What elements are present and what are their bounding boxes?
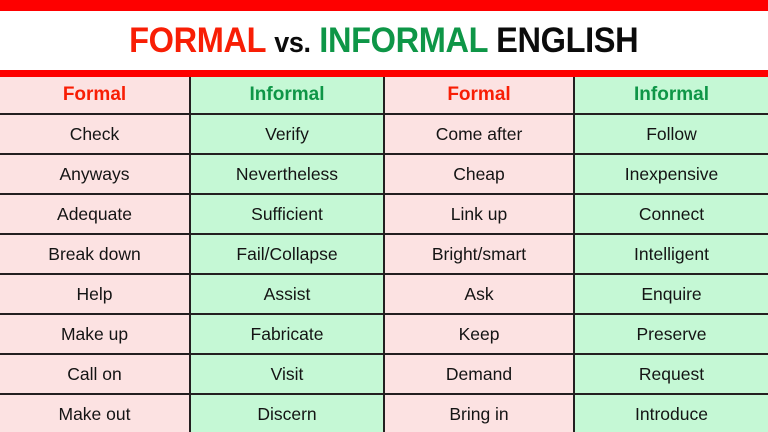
title-word-formal: FORMAL bbox=[129, 21, 265, 60]
table-row: Anyways Nevertheless Cheap Inexpensive bbox=[0, 154, 768, 194]
cell-formal: Come after bbox=[384, 114, 574, 154]
table-row: Break down Fail/Collapse Bright/smart In… bbox=[0, 234, 768, 274]
cell-informal: Fail/Collapse bbox=[190, 234, 384, 274]
title-word-vs: vs. bbox=[275, 27, 311, 59]
table-row: Adequate Sufficient Link up Connect bbox=[0, 194, 768, 234]
title-word-informal: INFORMAL bbox=[320, 21, 488, 60]
table-row: Make up Fabricate Keep Preserve bbox=[0, 314, 768, 354]
vocabulary-infographic: FORMAL vs. INFORMAL ENGLISH Formal Infor… bbox=[0, 0, 768, 432]
column-header-formal-2: Formal bbox=[384, 77, 574, 114]
cell-informal: Visit bbox=[190, 354, 384, 394]
title-banner: FORMAL vs. INFORMAL ENGLISH bbox=[0, 11, 768, 70]
cell-informal: Request bbox=[574, 354, 768, 394]
cell-informal: Enquire bbox=[574, 274, 768, 314]
cell-informal: Connect bbox=[574, 194, 768, 234]
column-header-formal-1: Formal bbox=[0, 77, 190, 114]
cell-formal: Anyways bbox=[0, 154, 190, 194]
cell-formal: Cheap bbox=[384, 154, 574, 194]
cell-informal: Verify bbox=[190, 114, 384, 154]
cell-informal: Inexpensive bbox=[574, 154, 768, 194]
vocabulary-table-container: Formal Informal Formal Informal Check Ve… bbox=[0, 77, 768, 432]
column-header-informal-2: Informal bbox=[574, 77, 768, 114]
cell-informal: Discern bbox=[190, 394, 384, 432]
cell-informal: Intelligent bbox=[574, 234, 768, 274]
table-header: Formal Informal Formal Informal bbox=[0, 77, 768, 114]
cell-formal: Make up bbox=[0, 314, 190, 354]
cell-formal: Call on bbox=[0, 354, 190, 394]
page-title: FORMAL vs. INFORMAL ENGLISH bbox=[129, 23, 638, 58]
cell-formal: Bright/smart bbox=[384, 234, 574, 274]
cell-formal: Adequate bbox=[0, 194, 190, 234]
cell-formal: Ask bbox=[384, 274, 574, 314]
cell-informal: Fabricate bbox=[190, 314, 384, 354]
cell-formal: Break down bbox=[0, 234, 190, 274]
cell-formal: Check bbox=[0, 114, 190, 154]
vocabulary-table: Formal Informal Formal Informal Check Ve… bbox=[0, 77, 768, 432]
cell-formal: Link up bbox=[384, 194, 574, 234]
top-red-rule bbox=[0, 0, 768, 11]
cell-informal: Preserve bbox=[574, 314, 768, 354]
cell-informal: Follow bbox=[574, 114, 768, 154]
cell-formal: Keep bbox=[384, 314, 574, 354]
cell-formal: Help bbox=[0, 274, 190, 314]
header-red-rule bbox=[0, 70, 768, 77]
cell-formal: Demand bbox=[384, 354, 574, 394]
table-row: Check Verify Come after Follow bbox=[0, 114, 768, 154]
cell-formal: Bring in bbox=[384, 394, 574, 432]
cell-informal: Assist bbox=[190, 274, 384, 314]
cell-informal: Introduce bbox=[574, 394, 768, 432]
column-header-informal-1: Informal bbox=[190, 77, 384, 114]
cell-informal: Sufficient bbox=[190, 194, 384, 234]
cell-informal: Nevertheless bbox=[190, 154, 384, 194]
table-row: Call on Visit Demand Request bbox=[0, 354, 768, 394]
table-body: Check Verify Come after Follow Anyways N… bbox=[0, 114, 768, 432]
title-word-english: ENGLISH bbox=[496, 21, 638, 60]
table-row: Make out Discern Bring in Introduce bbox=[0, 394, 768, 432]
cell-formal: Make out bbox=[0, 394, 190, 432]
table-row: Help Assist Ask Enquire bbox=[0, 274, 768, 314]
table-header-row: Formal Informal Formal Informal bbox=[0, 77, 768, 114]
